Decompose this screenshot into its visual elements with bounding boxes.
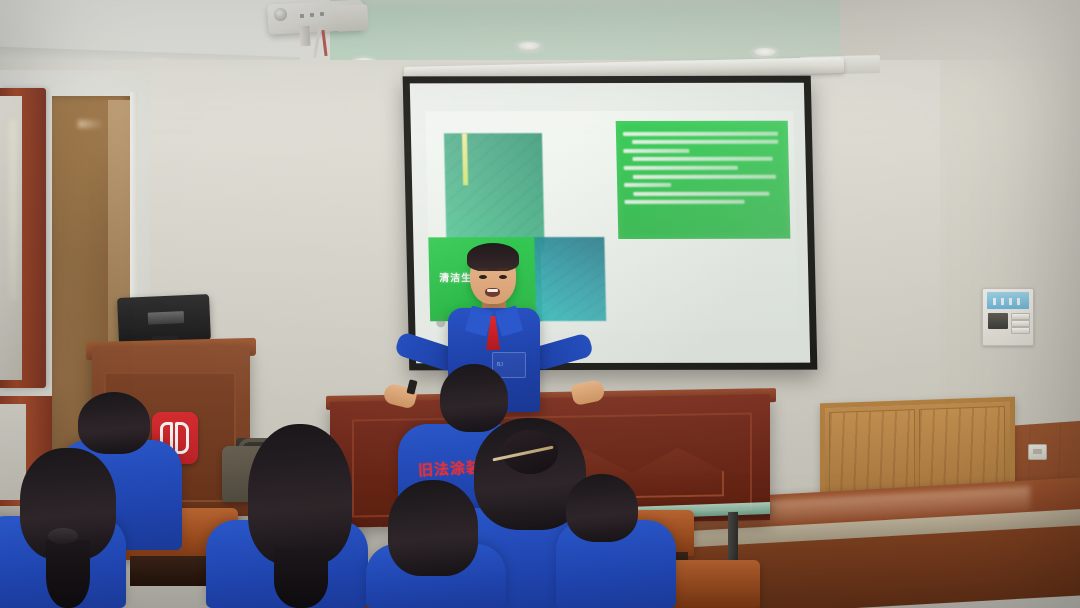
- monitor-brand-label: [148, 311, 184, 325]
- projector-front-housing: [335, 4, 368, 32]
- presenter-hair: [467, 243, 519, 271]
- presentation-view-icon[interactable]: [436, 318, 445, 327]
- panel-button[interactable]: [1011, 320, 1030, 327]
- green-text-panel: [616, 121, 791, 239]
- sugarcane-field-photo: [444, 133, 545, 251]
- wall-power-outlet: [1028, 444, 1047, 460]
- presenter-eyebrow: [497, 268, 509, 271]
- conference-room-photo: 清洁生产措施: [0, 0, 1080, 608]
- attendee-hair: [440, 364, 508, 432]
- table-leg: [728, 512, 738, 566]
- cane-leaves-photo: [534, 237, 606, 321]
- attendee-hair: [388, 480, 478, 576]
- recessed-downlight: [516, 42, 542, 51]
- attendee-hair: [248, 424, 352, 564]
- presenter-eye: [479, 275, 487, 279]
- slide-text-line: [624, 183, 671, 187]
- slide-text-line: [633, 157, 772, 161]
- attendee-hair: [78, 392, 150, 454]
- panel-button[interactable]: [1011, 313, 1030, 320]
- presenter-eyebrow: [477, 268, 489, 271]
- slide-text-line: [633, 174, 775, 178]
- slide-text-line: [624, 200, 744, 204]
- attendee-ponytail: [274, 548, 328, 608]
- attendee-hair: [566, 474, 638, 542]
- presenter-mouth: [485, 288, 500, 297]
- projector-vent: [300, 14, 304, 18]
- presenter-eye: [499, 275, 507, 279]
- pocket-logo-text: BJ: [497, 362, 503, 368]
- slide-text-line: [633, 140, 778, 144]
- projector-mount: [299, 26, 310, 46]
- panel-button[interactable]: [1011, 327, 1030, 334]
- uniform-back-text: 旧法涂装: [417, 456, 482, 480]
- projector-vent: [320, 12, 324, 16]
- hair-tie: [48, 528, 78, 544]
- panel-button[interactable]: [988, 313, 1008, 329]
- wall-control-panel[interactable]: [982, 288, 1034, 346]
- attendee-ponytail: [46, 540, 90, 608]
- projector-vent: [310, 13, 314, 17]
- panel-display: [987, 292, 1029, 309]
- slide-text-line: [624, 166, 738, 170]
- window-daylight: [8, 120, 17, 300]
- recessed-downlight: [752, 48, 778, 57]
- slide-text-line: [623, 149, 689, 153]
- slide-text-line: [623, 131, 778, 135]
- slide-text-line: [634, 191, 770, 195]
- marble-highlight: [78, 120, 104, 128]
